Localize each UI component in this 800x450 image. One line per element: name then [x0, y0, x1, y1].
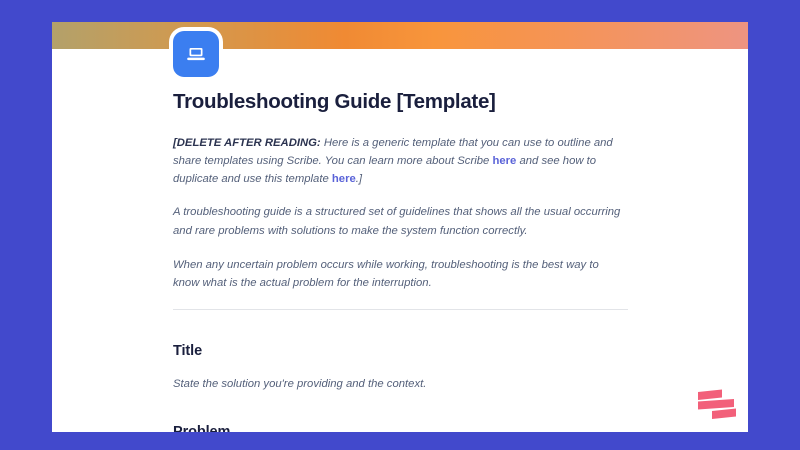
duplicate-template-link[interactable]: here — [332, 173, 356, 185]
laptop-icon[interactable] — [173, 31, 219, 77]
section-divider — [173, 309, 628, 310]
section-heading-title: Title — [173, 343, 628, 359]
delete-notice-paragraph: [DELETE AFTER READING: Here is a generic… — [173, 134, 628, 189]
page-title: Troubleshooting Guide [Template] — [173, 90, 628, 115]
section-heading-problem: Problem — [173, 424, 628, 432]
scribe-logo — [694, 388, 738, 420]
definition-paragraph: A troubleshooting guide is a structured … — [173, 203, 628, 240]
delete-notice-lead: [DELETE AFTER READING: — [173, 137, 321, 149]
cover-gradient-banner — [52, 22, 748, 49]
document-content: Troubleshooting Guide [Template] [DELETE… — [173, 90, 628, 432]
purpose-paragraph: When any uncertain problem occurs while … — [173, 256, 628, 293]
scribe-learn-more-link[interactable]: here — [492, 155, 516, 167]
delete-notice-text-3: .] — [356, 173, 362, 185]
document-page: Troubleshooting Guide [Template] [DELETE… — [52, 22, 748, 432]
section-description-title: State the solution you're providing and … — [173, 375, 628, 393]
